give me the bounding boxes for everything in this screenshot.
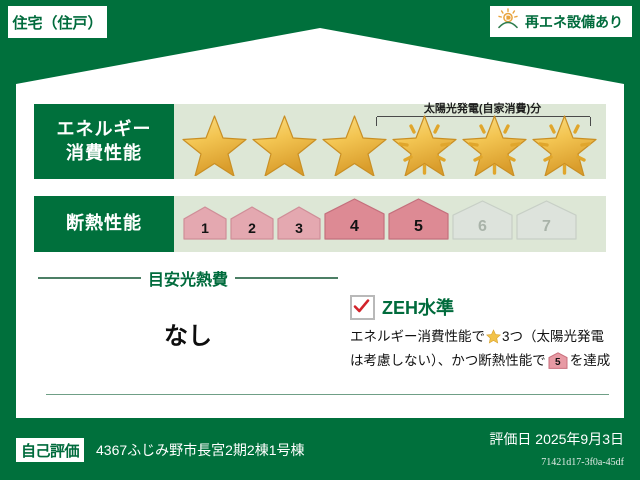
energy-stars-panel: 太陽光発電(自家消費)分 — [174, 104, 606, 179]
insulation-level-2: 2 — [230, 206, 274, 240]
energy-cost-value: なし — [38, 316, 338, 351]
insulation-level-value: 7 — [542, 218, 551, 240]
star-icon — [180, 108, 249, 176]
star-icon-solar — [390, 108, 459, 176]
energy-cost-block: 目安光熱費 なし — [38, 266, 338, 351]
label-card: エネルギー 消費性能 太陽光発電(自家消費)分 断熱性能 — [16, 28, 624, 418]
zeh-description: エネルギー消費性能で3つ（太陽光発電 は考慮しない）、かつ断熱性能で5を達成 — [350, 327, 612, 371]
insulation-level-value: 1 — [201, 220, 209, 240]
inline-house-badge: 5 — [548, 352, 568, 369]
zeh-desc-part1: エネルギー消費性能で — [350, 329, 485, 344]
evaluation-type-badge: 自己評価 — [16, 438, 84, 462]
star-icon — [320, 108, 389, 176]
star-icon-solar — [460, 108, 529, 176]
insulation-level-value: 6 — [478, 218, 487, 240]
inline-star-icon — [486, 329, 501, 351]
zeh-desc-star-count: 3つ（太陽光発電 — [502, 329, 604, 344]
insulation-performance-label: 断熱性能 — [34, 196, 174, 252]
inline-house-badge-value: 5 — [548, 355, 568, 370]
star-rating — [180, 108, 599, 176]
evaluation-date: 評価日 2025年9月3日 — [489, 429, 624, 449]
energy-label-root: 住宅（住戸） 再エネ設備あり 建築物省エネ法に基づく 省エネ性能ラベル — [0, 0, 640, 480]
insulation-level-1: 1 — [183, 206, 227, 240]
zeh-block: ZEH水準 エネルギー消費性能で3つ（太陽光発電 は考慮しない）、かつ断熱性能で… — [350, 294, 612, 371]
rule-right — [235, 277, 338, 279]
zeh-title-row: ZEH水準 — [350, 294, 612, 320]
star-icon — [250, 108, 319, 176]
energy-performance-label: エネルギー 消費性能 — [34, 104, 174, 179]
zeh-desc-part2: は考慮しない）、かつ断熱性能で — [350, 353, 546, 368]
check-icon — [353, 298, 370, 315]
insulation-level-4: 4 — [324, 198, 385, 240]
insulation-level-7: 7 — [516, 200, 577, 240]
insulation-level-value: 2 — [248, 220, 256, 240]
insulation-levels-panel: 1234567 — [174, 196, 606, 252]
insulation-level-value: 5 — [414, 218, 423, 240]
insulation-level-5: 5 — [388, 198, 449, 240]
insulation-level-value: 3 — [295, 220, 303, 240]
zeh-title-label: ZEH水準 — [382, 294, 454, 320]
section-divider — [46, 394, 609, 395]
insulation-performance-row: 断熱性能 1234567 — [34, 196, 606, 252]
footer: 自己評価 4367ふじみ野市長宮2期2棟1号棟 評価日 2025年9月3日 71… — [0, 424, 640, 480]
building-address: 4367ふじみ野市長宮2期2棟1号棟 — [96, 438, 305, 462]
insulation-level-value: 4 — [350, 218, 359, 240]
insulation-level-6: 6 — [452, 200, 513, 240]
energy-performance-row: エネルギー 消費性能 太陽光発電(自家消費)分 — [34, 104, 606, 179]
star-icon-solar — [530, 108, 599, 176]
evaluation-id: 71421d17-3f0a-45df — [541, 457, 624, 468]
energy-cost-heading: 目安光熱費 — [38, 266, 338, 290]
insulation-level-scale: 1234567 — [183, 198, 577, 240]
zeh-desc-part3: を達成 — [570, 353, 611, 368]
insulation-level-3: 3 — [277, 206, 321, 240]
rule-left — [38, 277, 141, 279]
zeh-checkbox[interactable] — [350, 295, 375, 320]
energy-cost-heading-label: 目安光熱費 — [148, 266, 228, 290]
